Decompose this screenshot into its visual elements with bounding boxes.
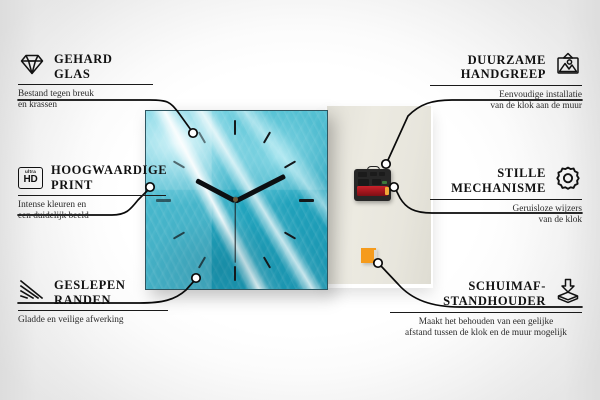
feature-title: DUURZAME HANDGREEP bbox=[461, 53, 546, 82]
diamond-icon bbox=[18, 52, 46, 81]
beveled-edges-icon bbox=[18, 278, 46, 307]
feature-rule bbox=[18, 84, 153, 85]
feature-title: GEHARD GLAS bbox=[54, 52, 112, 81]
feature-rule bbox=[18, 195, 166, 196]
connector-node-geslepen-randen bbox=[192, 274, 200, 282]
feature-title: GESLEPEN RANDEN bbox=[54, 278, 126, 307]
infographic-canvas: GEHARD GLAS Bestand tegen breuk en krass… bbox=[0, 0, 600, 400]
ultra-hd-large-label: HD bbox=[23, 175, 37, 185]
feature-title: STILLE MECHANISME bbox=[451, 166, 546, 195]
feature-duurzame-handgreep: DUURZAME HANDGREEP Eenvoudige installati… bbox=[430, 52, 582, 113]
feature-schuimafstandhouder: SCHUIMAF- STANDHOUDER Maakt het behouden… bbox=[390, 278, 582, 340]
connector-node-stille-mechanisme bbox=[390, 183, 398, 191]
feature-gehard-glas: GEHARD GLAS Bestand tegen breuk en krass… bbox=[18, 52, 153, 112]
feature-desc: Eenvoudige installatie van de klok aan d… bbox=[430, 90, 582, 113]
feature-desc: Intense kleuren en een duidelijk beeld bbox=[18, 200, 166, 223]
connector-node-gehard-glas bbox=[189, 129, 197, 137]
press-pad-icon bbox=[554, 278, 582, 309]
ultra-hd-icon: ultra HD bbox=[18, 167, 43, 189]
gear-icon bbox=[554, 165, 582, 196]
feature-desc: Bestand tegen breuk en krassen bbox=[18, 89, 153, 112]
feature-desc: Maakt het behouden van een gelijke afsta… bbox=[390, 317, 582, 340]
feature-title: SCHUIMAF- STANDHOUDER bbox=[443, 279, 546, 308]
feature-rule bbox=[390, 312, 582, 313]
feature-hoogwaardige-print: ultra HD HOOGWAARDIGE PRINT Intense kleu… bbox=[18, 163, 166, 223]
feature-desc: Gladde en veilige afwerking bbox=[18, 315, 168, 326]
feature-rule bbox=[430, 199, 582, 200]
connector-node-schuimafstandhouder bbox=[374, 259, 382, 267]
feature-desc: Geruisloze wijzers van de klok bbox=[430, 204, 582, 227]
feature-rule bbox=[18, 310, 168, 311]
connector-node-duurzame-handgreep bbox=[382, 160, 390, 168]
feature-rule bbox=[430, 85, 582, 86]
feature-title: HOOGWAARDIGE PRINT bbox=[51, 163, 167, 192]
framed-picture-icon bbox=[554, 52, 582, 82]
feature-geslepen-randen: GESLEPEN RANDEN Gladde en veilige afwerk… bbox=[18, 278, 168, 326]
feature-stille-mechanisme: STILLE MECHANISME Geruisloze wijzers van… bbox=[430, 165, 582, 227]
